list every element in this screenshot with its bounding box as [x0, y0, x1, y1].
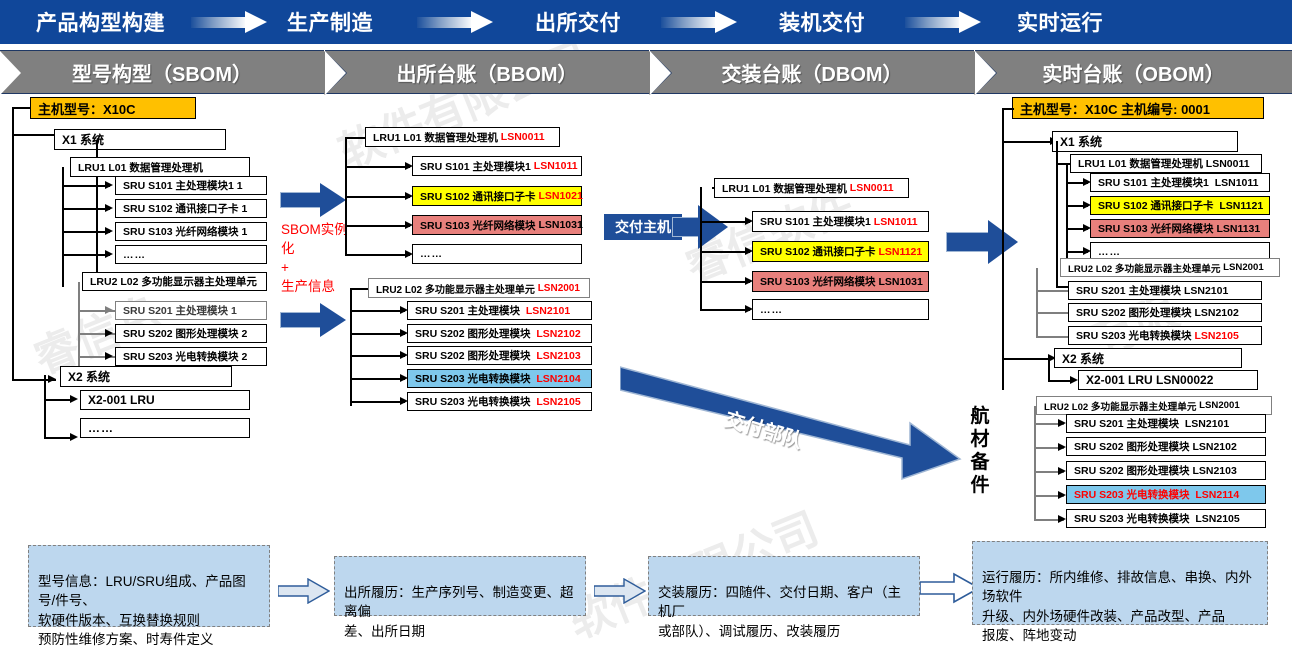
connector — [1048, 358, 1050, 380]
phase-label-3: 装机交付 — [779, 7, 865, 37]
bbom-node-s203-a[interactable]: SRU S203 光电转换模块 LSN2104 — [407, 369, 592, 388]
arrow-head-icon — [48, 375, 56, 383]
node-lsn: LSN1011 — [874, 216, 918, 228]
phase-label-2: 出所交付 — [535, 7, 621, 37]
node-lsn: LSN2104 — [536, 373, 580, 385]
info-arrow-2-icon — [594, 578, 646, 604]
delivery-host-label: 交付主机 — [604, 214, 682, 240]
connector — [700, 281, 750, 283]
node-label: SRU S203 光电转换模块 — [1074, 487, 1190, 502]
node-lsn: LSN2001 — [538, 283, 580, 294]
dbom-node-s103[interactable]: SRU S103 光纤网络模块 LSN1031 — [752, 271, 929, 292]
phase-label-0: 产品构型构建 — [36, 7, 165, 37]
obom-node-lru2[interactable]: LRU2 L02 多功能显示器主处理单元 LSN2001 — [1060, 258, 1280, 277]
sbom-node-lru1[interactable]: LRU1 L01 数据管理处理机 — [70, 157, 250, 177]
node-label: SRU S202 图形处理模块 — [1076, 305, 1192, 320]
connector — [12, 107, 30, 109]
arrow-head-icon — [105, 204, 113, 212]
node-label: SRU S201 主处理模块 — [415, 303, 520, 318]
node-lsn: LSN2101 — [1184, 285, 1228, 297]
bbom-node-s202-b[interactable]: SRU S202 图形处理模块 LSN2103 — [407, 346, 592, 365]
obom-node-s203[interactable]: SRU S203 光电转换模块 LSN2105 — [1068, 326, 1262, 345]
phase-arrow-icon — [417, 11, 495, 33]
sbom-node-lru2[interactable]: LRU2 L02 多功能显示器主处理单元 — [82, 272, 267, 291]
sbom-node-s102[interactable]: SRU S102 通讯接口子卡 1 — [115, 199, 267, 218]
node-label: SRU S102 通讯接口子卡 — [420, 189, 536, 204]
node-lsn: LSN1011 — [1215, 177, 1259, 189]
phase-label-4: 实时运行 — [1017, 7, 1103, 37]
bbom-node-ellipsis[interactable]: …… — [412, 244, 582, 264]
info-arrow-3-icon — [920, 572, 980, 604]
arrow-head-icon — [70, 433, 78, 441]
node-label: LRU1 L01 数据管理处理机 — [722, 181, 847, 196]
node-label: SRU S103 光纤网络模块 — [1098, 221, 1214, 236]
info-title: 交装履历： — [658, 585, 726, 600]
stage-chevron-dbom[interactable]: 交装台账（DBOM） — [650, 50, 974, 94]
node-lsn: LSN1031 — [538, 219, 582, 231]
connector — [350, 310, 405, 312]
phase-arrow-icon — [191, 11, 269, 33]
node-lsn: LSN1121 — [1219, 200, 1263, 212]
node-lsn: LSN2103 — [1192, 465, 1236, 477]
transform-note: SBOM实例化 + 生产信息 — [281, 220, 351, 296]
connector — [1002, 108, 1004, 390]
node-lsn: LSN2001 — [1199, 400, 1240, 411]
connector — [1002, 141, 1054, 143]
node-lsn: LSN0011 — [1206, 158, 1250, 170]
stage-label: 实时台账（OBOM） — [1042, 58, 1224, 87]
connector — [1002, 108, 1014, 110]
node-label: LRU2 L02 多功能显示器主处理单元 — [1068, 261, 1220, 275]
node-lsn: LSN0011 — [850, 182, 894, 194]
node-label: SRU S203 光电转换模块 — [415, 394, 531, 409]
node-lsn: LSN2105 — [536, 396, 580, 408]
arrow-head-icon — [105, 227, 113, 235]
info-title: 型号信息： — [38, 574, 106, 589]
sbom-node-ellipsis-2[interactable]: …… — [80, 418, 250, 438]
obom-node-s103[interactable]: SRU S103 光纤网络模块 LSN1131 — [1090, 219, 1270, 238]
node-lsn: LSN1011 — [534, 160, 578, 172]
connector — [345, 225, 410, 227]
dbom-node-lru1[interactable]: LRU1 L01 数据管理处理机 LSN0011 — [714, 178, 909, 198]
info-box-model[interactable]: 型号信息：LRU/SRU组成、产品图号/件号、 软硬件版本、互换替换规则 预防性… — [28, 545, 270, 627]
bbom-node-s103[interactable]: SRU S103 光纤网络模块 LSN1031 — [412, 215, 582, 235]
arrow-head-icon — [105, 306, 113, 314]
obom-spare-s202-b[interactable]: SRU S202 图形处理模块 LSN2103 — [1066, 461, 1266, 480]
obom-spare-s202-a[interactable]: SRU S202 图形处理模块 LSN2102 — [1066, 437, 1266, 456]
connector — [345, 166, 410, 168]
node-lsn: LSN2102 — [1192, 441, 1236, 453]
node-lsn: LSN2103 — [536, 350, 580, 362]
obom-node-s101[interactable]: SRU S101 主处理模块1 LSN1011 — [1090, 173, 1270, 192]
node-label: SRU S102 通讯接口子卡 — [1098, 198, 1214, 213]
node-lsn: LSN2105 — [1194, 330, 1238, 342]
node-label: SRU S201 主处理模块 — [1076, 283, 1181, 298]
obom-node-x2-001[interactable]: X2-001 LRU LSN00022 — [1078, 370, 1258, 390]
sbom-node-x2-001[interactable]: X2-001 LRU — [80, 390, 250, 410]
dbom-to-obom-arrow-icon — [946, 220, 1020, 266]
phase-arrow-icon — [661, 11, 739, 33]
node-label: SRU S203 光电转换模块 — [1076, 328, 1192, 343]
node-label: SRU S203 光电转换模块 — [415, 371, 531, 386]
connector — [350, 401, 405, 403]
node-label: SRU S202 图形处理模块 — [415, 348, 531, 363]
connector — [1066, 163, 1068, 261]
connector — [62, 254, 110, 256]
node-label: SRU S103 光纤网络模块 — [420, 218, 536, 233]
delivery-troop-arrow-icon — [620, 355, 980, 485]
node-lsn: LSN1121 — [878, 246, 922, 258]
node-label: SRU S103 光纤网络模块 — [760, 274, 876, 289]
sbom-node-s103[interactable]: SRU S103 光纤网络模块 1 — [115, 222, 267, 241]
info-arrow-1-icon — [278, 578, 330, 604]
connector — [700, 187, 702, 309]
connector — [700, 309, 750, 311]
bbom-node-s102[interactable]: SRU S102 通讯接口子卡 LSN1021 — [412, 186, 582, 206]
sbom-node-x2[interactable]: X2 系统 — [60, 366, 232, 387]
info-box-dbom[interactable]: 交装履历：四随件、交付日期、客户（主机厂 或部队）、调试履历、改装履历 — [648, 556, 920, 616]
connector — [78, 282, 80, 378]
node-lsn: LSN2101 — [1185, 418, 1229, 430]
obom-node-s202[interactable]: SRU S202 图形处理模块 LSN2102 — [1068, 303, 1262, 322]
arrow-head-icon — [1058, 515, 1066, 523]
info-box-obom[interactable]: 运行履历：所内维修、排故信息、串换、内外场软件 升级、内外场硬件改装、产品改型、… — [972, 541, 1268, 625]
sbom-node-x1[interactable]: X1 系统 — [54, 129, 226, 150]
node-lsn: LSN1031 — [878, 276, 922, 288]
stage-label: 型号构型（SBOM） — [72, 58, 252, 87]
info-title: 运行履历： — [982, 570, 1050, 585]
node-label: SRU S101 主处理模块1 — [420, 159, 531, 174]
connector — [345, 137, 367, 139]
node-lsn: LSN1131 — [1216, 223, 1260, 235]
stage-bar: 型号构型（SBOM） 出所台账（BBOM） 交装台账（DBOM） 实时台账（OB… — [0, 50, 1292, 94]
arrow-head-icon — [1058, 443, 1066, 451]
node-label: LRU2 L02 多功能显示器主处理单元 — [376, 281, 535, 296]
node-label: SRU S202 图形处理模块 — [415, 326, 531, 341]
node-lsn: LSN2102 — [536, 328, 580, 340]
node-label: LRU1 L01 数据管理处理机 — [373, 130, 498, 145]
bbom-node-lru2[interactable]: LRU2 L02 多功能显示器主处理单元 LSN2001 — [368, 278, 590, 298]
dbom-node-s102[interactable]: SRU S102 通讯接口子卡 LSN1121 — [752, 241, 929, 262]
node-label: SRU S102 通讯接口子卡 — [760, 244, 876, 259]
connector — [1036, 268, 1038, 336]
info-title: 出所履历： — [344, 585, 412, 600]
node-label: LRU2 L02 多功能显示器主处理单元 — [1044, 399, 1196, 413]
connector — [12, 107, 14, 380]
sbom-node-s101[interactable]: SRU S101 主处理模块1 1 — [115, 176, 267, 195]
phase-arrow-icon — [905, 11, 983, 33]
arrow-head-icon — [1058, 491, 1066, 499]
stage-label: 出所台账（BBOM） — [396, 58, 577, 87]
stage-label: 交装台账（DBOM） — [721, 58, 902, 87]
sbom-node-s203[interactable]: SRU S203 光电转换模块 2 — [115, 347, 267, 366]
connector — [62, 231, 110, 233]
connector — [345, 254, 410, 256]
connector — [350, 333, 405, 335]
arrow-head-icon — [1058, 419, 1066, 427]
connector — [700, 251, 750, 253]
node-label: SRU S101 主处理模块1 — [1098, 175, 1209, 190]
node-lsn: LSN2101 — [526, 305, 570, 317]
info-box-bbom[interactable]: 出所履历：生产序列号、制造变更、超离偏 差、出所日期 — [334, 556, 586, 616]
node-label: SRU S201 主处理模块 — [1074, 416, 1179, 431]
obom-spare-s203-b[interactable]: SRU S203 光电转换模块 LSN2105 — [1066, 509, 1266, 528]
node-lsn: LSN2102 — [1194, 307, 1238, 319]
stage-chevron-obom[interactable]: 实时台账（OBOM） — [975, 50, 1292, 94]
obom-node-s102[interactable]: SRU S102 通讯接口子卡 LSN1121 — [1090, 196, 1270, 215]
dbom-node-s101[interactable]: SRU S101 主处理模块1 LSN1011 — [752, 211, 929, 232]
obom-root-box[interactable]: 主机型号：X10C 主机编号: 0001 — [1012, 97, 1264, 119]
connector — [350, 288, 352, 406]
spare-parts-label: 航材备件 — [968, 405, 992, 497]
sbom-node-s201[interactable]: SRU S201 主处理模块 1 — [115, 301, 267, 320]
bbom-node-s202-a[interactable]: SRU S202 图形处理模块 LSN2102 — [407, 324, 592, 343]
obom-node-x2[interactable]: X2 系统 — [1054, 348, 1242, 368]
connector — [345, 137, 347, 255]
connector — [350, 355, 405, 357]
dbom-node-ellipsis[interactable]: …… — [752, 299, 929, 320]
arrow-head-icon — [1058, 467, 1066, 475]
node-label: SRU S203 光电转换模块 — [1074, 511, 1190, 526]
node-lsn: LSN2105 — [1195, 513, 1239, 525]
sbom-node-ellipsis-1[interactable]: …… — [115, 245, 267, 264]
node-label: SRU S101 主处理模块1 — [760, 214, 871, 229]
phase-bar: 产品构型构建 生产制造 出所交付 装机交付 实时运行 — [0, 0, 1292, 44]
phase-label-1: 生产制造 — [287, 7, 373, 37]
bbom-node-lru1[interactable]: LRU1 L01 数据管理处理机 LSN0011 — [365, 127, 560, 147]
obom-node-lru1[interactable]: LRU1 L01 数据管理处理机 LSN0011 — [1070, 154, 1262, 173]
connector — [62, 208, 110, 210]
connector — [350, 378, 405, 380]
obom-spare-lru2[interactable]: LRU2 L02 多功能显示器主处理单元 LSN2001 — [1036, 396, 1272, 415]
node-lsn: LSN2001 — [1223, 262, 1264, 273]
arrow-head-icon — [70, 395, 78, 403]
sbom-to-bbom-arrow-1-icon — [280, 183, 346, 217]
node-label: SRU S202 图形处理模块 — [1074, 463, 1190, 478]
node-label: LRU1 L01 数据管理处理机 — [1078, 156, 1203, 171]
sbom-root-box[interactable]: 主机型号：X10C — [30, 97, 196, 119]
arrow-head-icon — [1070, 376, 1078, 384]
node-lsn: LSN2114 — [1195, 489, 1239, 501]
obom-node-x1[interactable]: X1 系统 — [1052, 131, 1238, 152]
obom-node-s201[interactable]: SRU S201 主处理模块 LSN2101 — [1068, 281, 1262, 300]
obom-spare-s203-a[interactable]: SRU S203 光电转换模块 LSN2114 — [1066, 485, 1266, 504]
node-lsn: LSN0011 — [501, 131, 545, 143]
stage-chevron-sbom[interactable]: 型号构型（SBOM） — [0, 50, 324, 94]
arrow-head-icon — [105, 329, 113, 337]
delivery-troop-arrow: 交付部队 — [620, 355, 980, 485]
arrow-head-icon — [105, 181, 113, 189]
bbom-node-s101[interactable]: SRU S101 主处理模块1 LSN1011 — [412, 156, 582, 176]
connector — [345, 196, 410, 198]
connector — [62, 185, 110, 187]
arrow-head-icon — [105, 250, 113, 258]
sbom-to-bbom-arrow-2-icon — [280, 303, 346, 337]
bbom-node-s201[interactable]: SRU S201 主处理模块 LSN2101 — [407, 301, 592, 320]
arrow-head-icon — [105, 352, 113, 360]
sbom-node-s202[interactable]: SRU S202 图形处理模块 2 — [115, 324, 267, 343]
connector — [44, 375, 46, 437]
node-label: SRU S202 图形处理模块 — [1074, 439, 1190, 454]
connector — [700, 221, 750, 223]
connector — [1002, 358, 1052, 360]
obom-spare-s201[interactable]: SRU S201 主处理模块 LSN2101 — [1066, 414, 1266, 433]
bbom-node-s203-b[interactable]: SRU S203 光电转换模块 LSN2105 — [407, 392, 592, 411]
stage-chevron-bbom[interactable]: 出所台账（BBOM） — [325, 50, 649, 94]
node-lsn: LSN1021 — [538, 190, 582, 202]
